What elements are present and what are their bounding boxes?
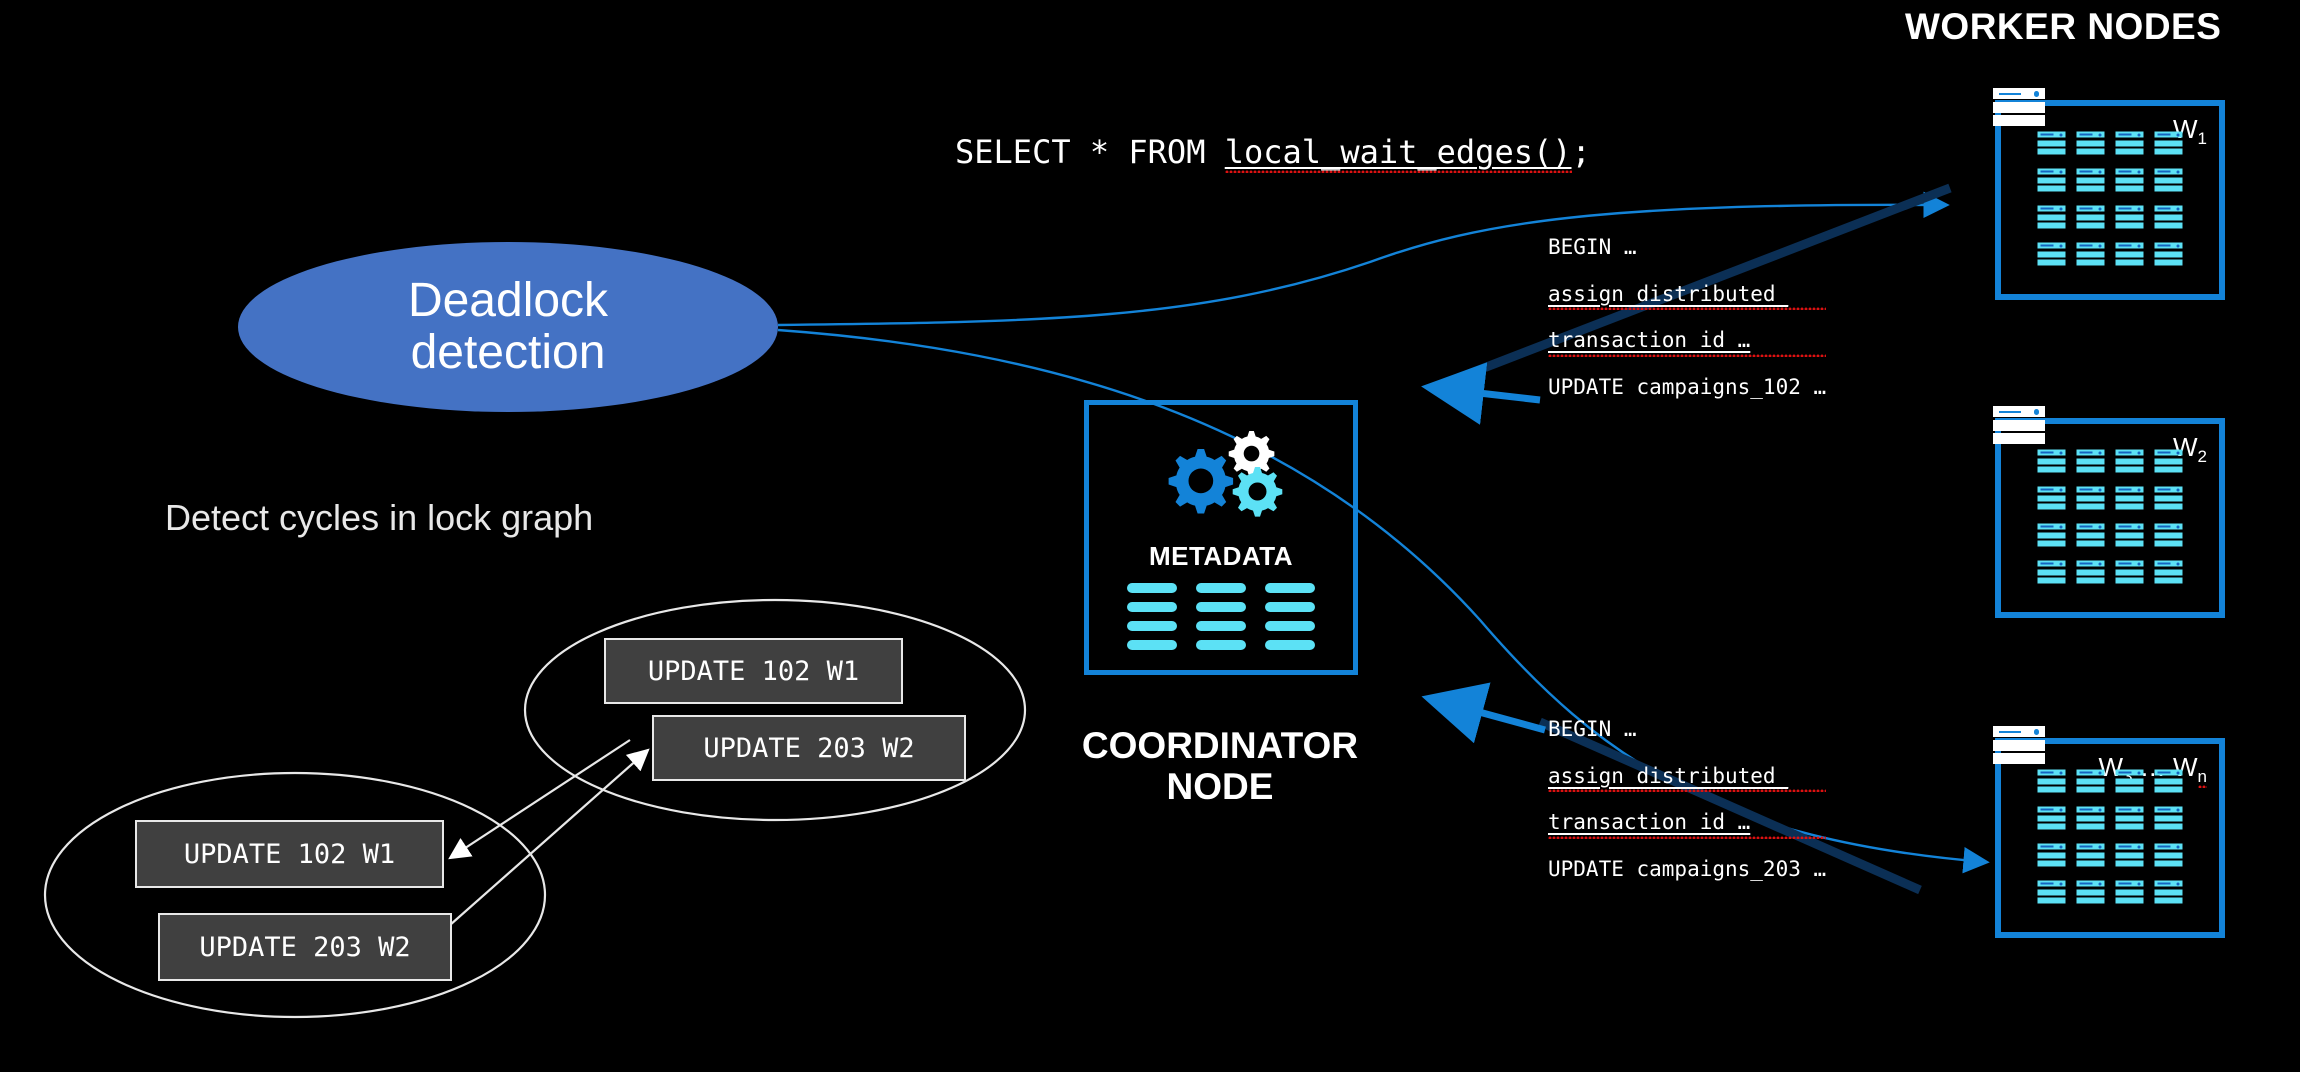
worker-node-3: W3 … Wn: [1995, 738, 2225, 938]
shard-icon: [2116, 243, 2144, 269]
sql-suffix: ;: [1572, 133, 1591, 171]
metadata-bar: [1196, 602, 1246, 612]
code-line: BEGIN …: [1548, 716, 1826, 744]
code-block-transaction-102: BEGIN … assign_distributed_ transaction_…: [1548, 234, 1826, 402]
shard-icon: [2077, 881, 2105, 907]
lock-cycle-ellipse-upper: [525, 600, 1025, 820]
metadata-bar: [1265, 621, 1315, 631]
server-stack-icon: [1993, 406, 2045, 444]
shard-icon: [2038, 169, 2066, 195]
shard-icon: [2038, 206, 2066, 232]
lock-box-upper-1: UPDATE 102 W1: [604, 638, 903, 704]
coordinator-heading-line1: COORDINATOR: [1065, 725, 1375, 766]
code-line: UPDATE campaigns_203 …: [1548, 856, 1826, 884]
deadlock-detection-ellipse: Deadlockdetection: [238, 242, 778, 412]
worker-nodes-heading: WORKER NODES: [1905, 6, 2221, 48]
shard-icon: [2077, 132, 2105, 158]
metadata-bar: [1127, 583, 1177, 593]
metadata-bar: [1265, 640, 1315, 650]
shard-icon: [2038, 524, 2066, 550]
metadata-bar: [1127, 621, 1177, 631]
gears-icon: [1089, 423, 1353, 533]
shard-icon: [2116, 206, 2144, 232]
server-stack-icon: [1993, 726, 2045, 764]
shard-icon: [2038, 881, 2066, 907]
shard-icon: [2077, 169, 2105, 195]
coordinator-heading-line2: NODE: [1065, 766, 1375, 807]
shard-grid: [2038, 450, 2183, 587]
worker-label-sub: 1: [2198, 129, 2207, 148]
shard-icon: [2155, 132, 2183, 158]
diagram-canvas: WORKER NODES COORDINATOR NODE SELECT * F…: [0, 0, 2300, 1072]
deadlock-label-line1: Deadlock: [408, 274, 608, 327]
lock-box-lower-1: UPDATE 102 W1: [135, 820, 444, 888]
code-block-transaction-203: BEGIN … assign_distributed_ transaction_…: [1548, 716, 1826, 884]
shard-icon: [2116, 770, 2144, 796]
shard-icon: [2155, 206, 2183, 232]
shard-icon: [2077, 844, 2105, 870]
sql-function-name: local_wait_edges(): [1225, 133, 1572, 171]
coordinator-node-heading: COORDINATOR NODE: [1065, 725, 1375, 808]
shard-icon: [2116, 844, 2144, 870]
lock-box-upper-2: UPDATE 203 W2: [652, 715, 966, 781]
shard-icon: [2155, 807, 2183, 833]
worker-label-tail-sub: n: [2198, 767, 2207, 786]
shard-icon: [2116, 450, 2144, 476]
shard-icon: [2077, 206, 2105, 232]
shard-icon: [2038, 132, 2066, 158]
shard-icon: [2155, 881, 2183, 907]
shard-icon: [2155, 450, 2183, 476]
shard-icon: [2155, 169, 2183, 195]
shard-icon: [2038, 844, 2066, 870]
code-line: UPDATE campaigns_102 …: [1548, 374, 1826, 402]
code-line: transaction_id …: [1548, 809, 1826, 837]
arrow-worker3-to-coordinator: [1435, 700, 1545, 730]
worker-node-1: W1: [1995, 100, 2225, 300]
server-stack-icon: [1993, 88, 2045, 126]
code-line: assign_distributed_: [1548, 281, 1826, 309]
shard-icon: [2038, 561, 2066, 587]
shard-icon: [2155, 524, 2183, 550]
metadata-rows: [1127, 583, 1315, 650]
deadlock-detection-label: Deadlockdetection: [408, 275, 608, 379]
deadlock-label-line2: detection: [411, 326, 606, 379]
metadata-bar: [1127, 640, 1177, 650]
arrow-cycle-down: [450, 740, 630, 858]
worker-node-2: W2: [1995, 418, 2225, 618]
shard-icon: [2077, 243, 2105, 269]
shard-grid: [2038, 770, 2183, 907]
lock-box-lower-2: UPDATE 203 W2: [158, 913, 452, 981]
arrow-cycle-up: [450, 750, 648, 925]
shard-icon: [2116, 807, 2144, 833]
shard-icon: [2116, 881, 2144, 907]
sql-prefix: SELECT * FROM: [955, 133, 1225, 171]
detect-cycles-caption: Detect cycles in lock graph: [165, 497, 593, 539]
code-line: BEGIN …: [1548, 234, 1826, 262]
coordinator-metadata-box: METADATA: [1084, 400, 1358, 675]
code-line: assign_distributed_: [1548, 763, 1826, 791]
metadata-bar: [1265, 602, 1315, 612]
shard-icon: [2077, 450, 2105, 476]
code-line: transaction_id …: [1548, 327, 1826, 355]
shard-icon: [2155, 844, 2183, 870]
shard-icon: [2038, 807, 2066, 833]
metadata-bar: [1127, 602, 1177, 612]
shard-icon: [2077, 524, 2105, 550]
worker-label-sub: 2: [2198, 447, 2207, 466]
shard-icon: [2116, 169, 2144, 195]
shard-icon: [2038, 487, 2066, 513]
shard-icon: [2155, 487, 2183, 513]
shard-icon: [2155, 243, 2183, 269]
shard-icon: [2038, 770, 2066, 796]
shard-icon: [2038, 450, 2066, 476]
shard-icon: [2077, 770, 2105, 796]
shard-icon: [2116, 487, 2144, 513]
metadata-bar: [1196, 640, 1246, 650]
shard-icon: [2077, 487, 2105, 513]
shard-grid: [2038, 132, 2183, 269]
shard-icon: [2116, 524, 2144, 550]
shard-icon: [2077, 807, 2105, 833]
metadata-bar: [1196, 621, 1246, 631]
shard-icon: [2155, 770, 2183, 796]
shard-icon: [2077, 561, 2105, 587]
metadata-label: METADATA: [1089, 541, 1353, 572]
shard-icon: [2155, 561, 2183, 587]
shard-icon: [2116, 561, 2144, 587]
metadata-bar: [1265, 583, 1315, 593]
shard-icon: [2038, 243, 2066, 269]
shard-icon: [2116, 132, 2144, 158]
sql-query-text: SELECT * FROM local_wait_edges();: [955, 133, 1591, 171]
arrow-worker1-to-coordinator: [1435, 388, 1540, 400]
metadata-bar: [1196, 583, 1246, 593]
